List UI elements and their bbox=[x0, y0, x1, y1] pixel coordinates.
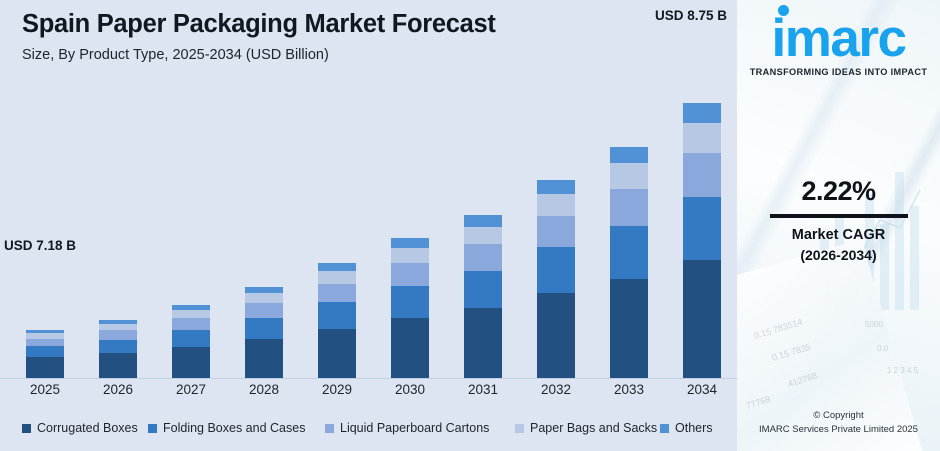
legend-swatch-icon bbox=[325, 424, 334, 433]
bar-segment bbox=[99, 353, 137, 378]
svg-text:0.15 783514: 0.15 783514 bbox=[753, 317, 804, 341]
bar-segment bbox=[172, 330, 210, 347]
x-axis-tick-2026: 2026 bbox=[88, 382, 148, 397]
page-title: Spain Paper Packaging Market Forecast bbox=[22, 10, 496, 39]
bar-segment bbox=[391, 318, 429, 378]
legend-label: Folding Boxes and Cases bbox=[163, 421, 305, 435]
x-axis-tick-2032: 2032 bbox=[526, 382, 586, 397]
logo-tagline: TRANSFORMING IDEAS INTO IMPACT bbox=[737, 67, 940, 77]
x-axis-tick-2027: 2027 bbox=[161, 382, 221, 397]
bar-segment bbox=[318, 302, 356, 328]
x-axis-tick-2034: 2034 bbox=[672, 382, 732, 397]
legend-item-paper-bags-and-sacks[interactable]: Paper Bags and Sacks bbox=[515, 421, 657, 435]
legend-swatch-icon bbox=[22, 424, 31, 433]
svg-text:77768: 77768 bbox=[745, 394, 772, 411]
bar-segment bbox=[610, 279, 648, 378]
svg-text:1 2 3 4 5: 1 2 3 4 5 bbox=[887, 366, 919, 375]
bar-group-2031 bbox=[464, 215, 502, 378]
bar-segment bbox=[99, 330, 137, 339]
bar-segment bbox=[464, 244, 502, 270]
x-axis-tick-2030: 2030 bbox=[380, 382, 440, 397]
svg-text:0.0: 0.0 bbox=[877, 344, 889, 353]
legend-swatch-icon bbox=[515, 424, 524, 433]
bar-segment bbox=[318, 263, 356, 271]
svg-text:5000: 5000 bbox=[865, 320, 883, 329]
bar-group-2025 bbox=[26, 330, 64, 378]
cagr-value: 2.22% bbox=[737, 176, 940, 207]
bar-segment bbox=[245, 293, 283, 303]
bar-segment bbox=[537, 247, 575, 293]
x-axis-labels: 2025202620272028202920302031203220332034 bbox=[0, 382, 737, 406]
bar-segment bbox=[391, 286, 429, 318]
cagr-label: Market CAGR bbox=[737, 227, 940, 243]
bar-segment bbox=[318, 284, 356, 302]
legend-item-folding-boxes-and-cases[interactable]: Folding Boxes and Cases bbox=[148, 421, 305, 435]
bar-segment bbox=[99, 340, 137, 353]
title-block: Spain Paper Packaging Market Forecast Si… bbox=[22, 10, 496, 63]
legend-swatch-icon bbox=[660, 424, 669, 433]
chart-panel: Spain Paper Packaging Market Forecast Si… bbox=[0, 0, 737, 451]
legend-label: Corrugated Boxes bbox=[37, 421, 138, 435]
copyright-block: © Copyright IMARC Services Private Limit… bbox=[737, 410, 940, 435]
bar-segment bbox=[537, 180, 575, 194]
bar-group-2028 bbox=[245, 287, 283, 378]
bar-group-2033 bbox=[610, 147, 648, 378]
x-axis-line bbox=[0, 378, 737, 379]
x-axis-tick-2028: 2028 bbox=[234, 382, 294, 397]
copyright-line-2: IMARC Services Private Limited 2025 bbox=[737, 424, 940, 435]
cagr-block: 2.22% Market CAGR (2026-2034) bbox=[737, 176, 940, 263]
bar-segment bbox=[464, 227, 502, 245]
bar-segment bbox=[683, 123, 721, 153]
legend-swatch-icon bbox=[148, 424, 157, 433]
bar-segment bbox=[537, 194, 575, 216]
bar-segment bbox=[391, 248, 429, 263]
bar-segment bbox=[464, 215, 502, 227]
x-axis-tick-2033: 2033 bbox=[599, 382, 659, 397]
bar-segment bbox=[610, 226, 648, 279]
bar-group-2029 bbox=[318, 263, 356, 378]
bar-segment bbox=[464, 271, 502, 308]
chart-legend: Corrugated BoxesFolding Boxes and CasesL… bbox=[0, 421, 737, 445]
x-axis-tick-2031: 2031 bbox=[453, 382, 513, 397]
brand-panel: 0.15 783514 0.15 7835 412768 77768 5000 … bbox=[737, 0, 940, 451]
bar-segment bbox=[245, 339, 283, 378]
bar-segment bbox=[318, 329, 356, 378]
end-value-callout: USD 8.75 B bbox=[655, 8, 727, 23]
legend-item-others[interactable]: Others bbox=[660, 421, 713, 435]
cagr-divider bbox=[770, 214, 908, 218]
svg-text:0.15 7835: 0.15 7835 bbox=[771, 342, 812, 363]
legend-label: Others bbox=[675, 421, 713, 435]
cagr-period: (2026-2034) bbox=[737, 247, 940, 263]
bar-segment bbox=[683, 260, 721, 378]
bar-segment bbox=[245, 318, 283, 339]
bar-segment bbox=[537, 293, 575, 378]
bar-segment bbox=[26, 357, 64, 378]
bar-segment bbox=[245, 303, 283, 318]
bar-segment bbox=[26, 339, 64, 347]
bar-group-2030 bbox=[391, 238, 429, 378]
bar-group-2034 bbox=[683, 103, 721, 378]
bar-segment bbox=[683, 103, 721, 122]
chart-infographic: Spain Paper Packaging Market Forecast Si… bbox=[0, 0, 940, 451]
bar-segment bbox=[318, 271, 356, 284]
x-axis-tick-2025: 2025 bbox=[15, 382, 75, 397]
bar-group-2026 bbox=[99, 320, 137, 378]
bar-segment bbox=[610, 189, 648, 226]
legend-item-corrugated-boxes[interactable]: Corrugated Boxes bbox=[22, 421, 138, 435]
x-axis-tick-2029: 2029 bbox=[307, 382, 367, 397]
bar-segment bbox=[610, 147, 648, 163]
bar-segment bbox=[610, 163, 648, 188]
legend-label: Paper Bags and Sacks bbox=[530, 421, 657, 435]
legend-label: Liquid Paperboard Cartons bbox=[340, 421, 489, 435]
bar-group-2032 bbox=[537, 180, 575, 378]
logo-text: imarc bbox=[772, 9, 906, 68]
logo-wordmark: imarc bbox=[772, 14, 906, 65]
bar-segment bbox=[464, 308, 502, 378]
bar-segment bbox=[172, 318, 210, 330]
logo-dot-icon bbox=[778, 5, 789, 16]
bar-segment bbox=[537, 216, 575, 248]
bar-segment bbox=[26, 346, 64, 357]
bar-segment bbox=[172, 310, 210, 318]
legend-item-liquid-paperboard-cartons[interactable]: Liquid Paperboard Cartons bbox=[325, 421, 489, 435]
svg-text:412768: 412768 bbox=[787, 371, 819, 389]
bar-segment bbox=[391, 263, 429, 285]
plot-area bbox=[0, 70, 737, 379]
bar-segment bbox=[391, 238, 429, 248]
bar-segment bbox=[172, 347, 210, 378]
imarc-logo: imarc TRANSFORMING IDEAS INTO IMPACT bbox=[737, 14, 940, 77]
bar-segment bbox=[683, 197, 721, 260]
bar-segment bbox=[683, 153, 721, 197]
start-value-callout: USD 7.18 B bbox=[4, 238, 76, 253]
copyright-line-1: © Copyright bbox=[737, 410, 940, 421]
bar-group-2027 bbox=[172, 305, 210, 378]
page-subtitle: Size, By Product Type, 2025-2034 (USD Bi… bbox=[22, 47, 496, 63]
